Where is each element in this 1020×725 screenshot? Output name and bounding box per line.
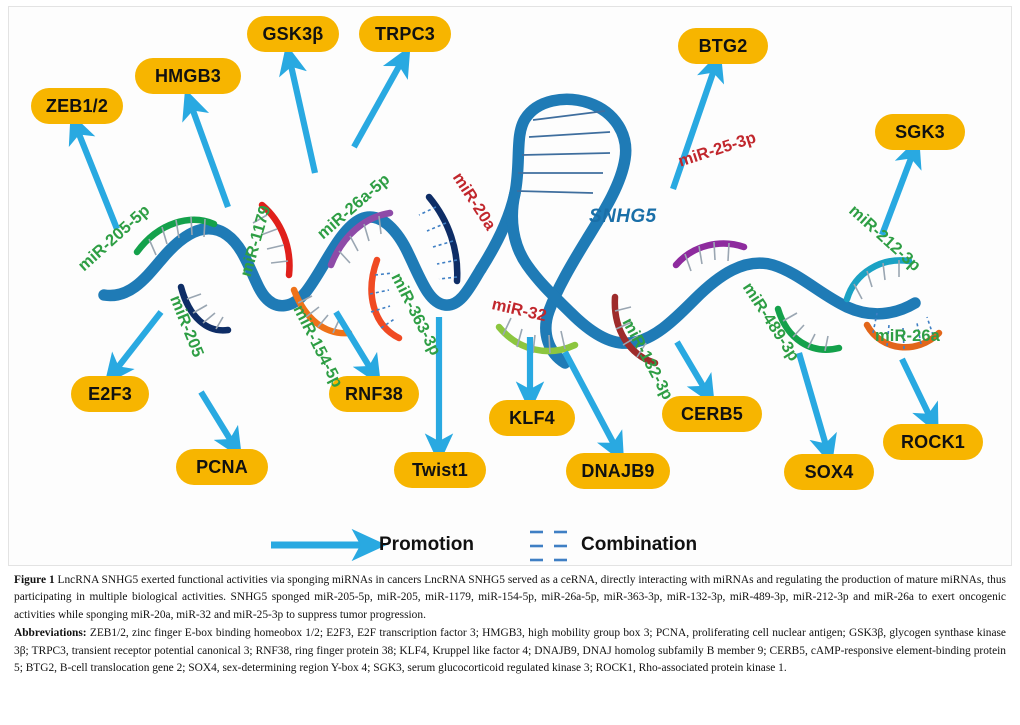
promotion-arrows <box>77 61 931 449</box>
gene-box-rock1[interactable]: ROCK1 <box>883 424 983 460</box>
legend-combination-dashes-glyph <box>530 532 567 560</box>
arrow-to-ZEB1-2 <box>77 129 117 229</box>
gene-box-zeb12[interactable]: ZEB1/2 <box>31 88 123 124</box>
gene-box-gsk3[interactable]: GSK3β <box>247 16 339 52</box>
arrow-to-RNF38 <box>336 312 372 371</box>
gene-box-hmgb3[interactable]: HMGB3 <box>135 58 241 94</box>
caption-abbrev-heading: Abbreviations: <box>14 627 87 639</box>
arrow-to-E2F3 <box>115 312 161 371</box>
arrow-to-GSK3b <box>290 61 315 173</box>
legend-combination-label: Combination <box>581 534 697 556</box>
mirna-arc-miR-363-3p <box>370 260 399 338</box>
caption-abbrev-body: ZEB1/2, zinc finger E-box binding homeob… <box>14 627 1006 674</box>
gene-box-dnajb9[interactable]: DNAJB9 <box>566 453 670 489</box>
figure-root: SNHG5 ZEB1/2HMGB3GSK3βTRPC3BTG2SGK3E2F3P… <box>0 0 1020 725</box>
arrow-to-ROCK1 <box>902 359 931 419</box>
arrow-to-SOX4 <box>799 353 827 449</box>
arrow-to-TRPC3 <box>354 61 402 147</box>
gene-box-pcna[interactable]: PCNA <box>176 449 268 485</box>
gene-box-klf4[interactable]: KLF4 <box>489 400 575 436</box>
gene-box-sox4[interactable]: SOX4 <box>784 454 874 490</box>
snhg5-rna-backbone <box>104 99 915 363</box>
arrow-to-SGK3 <box>882 153 913 235</box>
legend-promotion-label: Promotion <box>379 534 474 556</box>
gene-box-sgk3[interactable]: SGK3 <box>875 114 965 150</box>
arrow-to-HMGB3 <box>191 105 228 207</box>
mirna-label-mir26a: miR-26a <box>875 327 940 346</box>
caption-main-paragraph: Figure 1 LncRNA SNHG5 exerted functional… <box>14 572 1006 624</box>
caption-title-text: LncRNA SNHG5 exerted functional activiti… <box>14 574 1006 621</box>
gene-box-e2f3[interactable]: E2F3 <box>71 376 149 412</box>
caption-abbreviations-paragraph: Abbreviations: ZEB1/2, zinc finger E-box… <box>14 625 1006 677</box>
diagram-panel: SNHG5 ZEB1/2HMGB3GSK3βTRPC3BTG2SGK3E2F3P… <box>8 6 1012 566</box>
mirna-arc-miR-20a <box>419 197 457 281</box>
arrow-to-DNAJB9 <box>565 352 616 448</box>
caption-figure-number: Figure 1 <box>14 574 55 586</box>
gene-box-cerb5[interactable]: CERB5 <box>662 396 762 432</box>
arrow-to-BTG2 <box>673 67 715 189</box>
snhg5-label: SNHG5 <box>589 206 656 228</box>
gene-box-trpc3[interactable]: TRPC3 <box>359 16 451 52</box>
figure-caption: Figure 1 LncRNA SNHG5 exerted functional… <box>14 572 1006 678</box>
gene-box-btg2[interactable]: BTG2 <box>678 28 768 64</box>
arrow-to-PCNA <box>201 392 233 444</box>
loop-base-pairs <box>517 111 610 193</box>
arrow-to-CERB5 <box>677 342 706 391</box>
gene-box-twist1[interactable]: Twist1 <box>394 452 486 488</box>
